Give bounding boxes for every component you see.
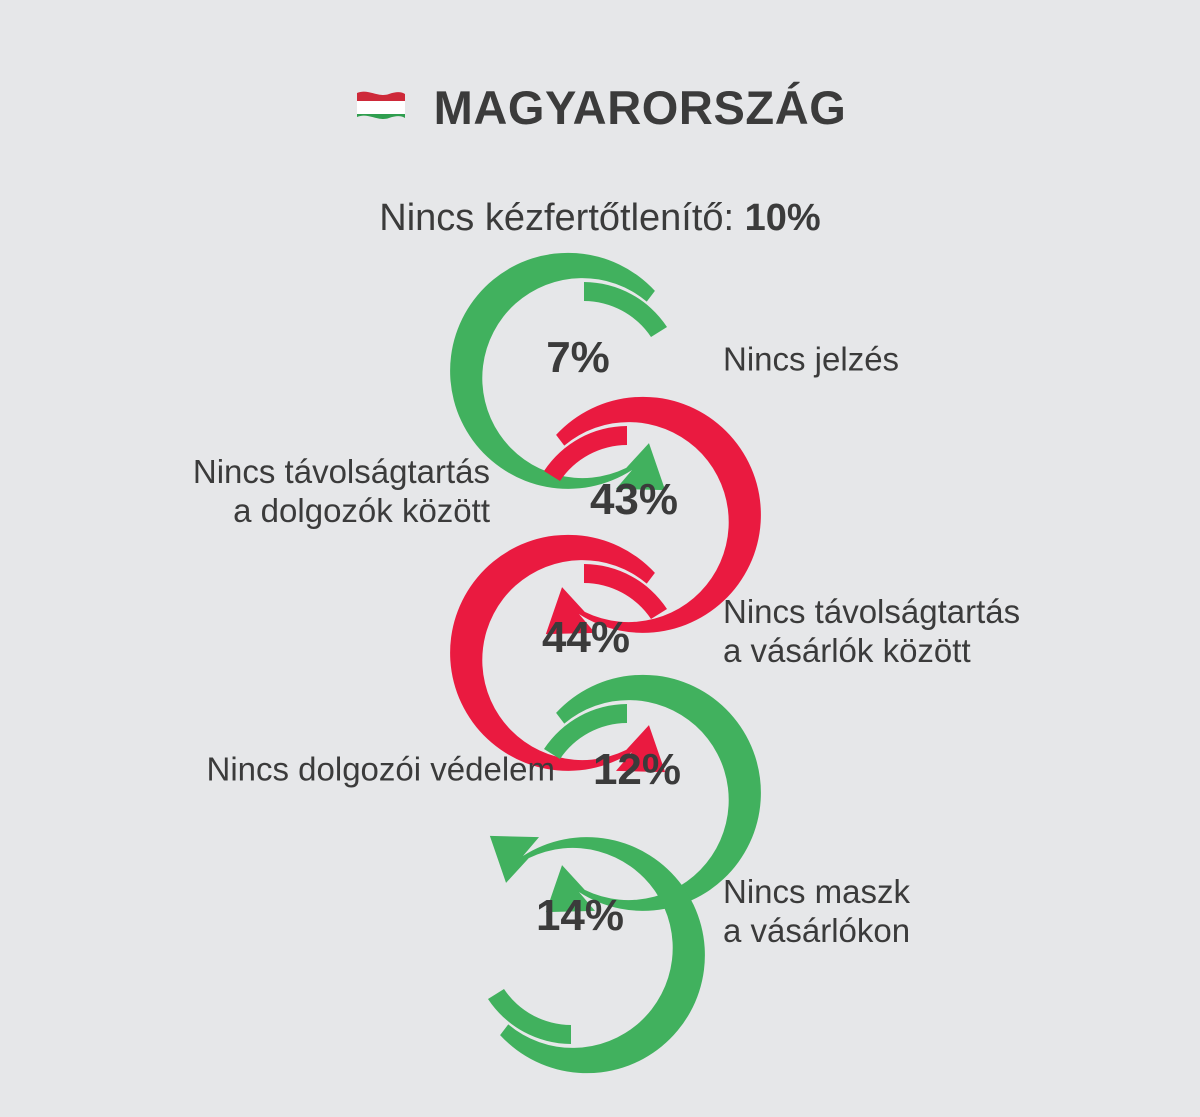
percent-nincs-jelzes: 7% bbox=[546, 336, 610, 380]
percent-nincs-tavolsagtartas-vasarlok: 44% bbox=[542, 616, 630, 660]
label-nincs-dolgozoi-vedelem: Nincs dolgozói védelem bbox=[206, 751, 555, 790]
label-nincs-jelzes: Nincs jelzés bbox=[723, 341, 899, 380]
infographic-canvas: MAGYARORSZÁG Nincs kézfertőtlenítő: 10% … bbox=[0, 0, 1200, 1117]
label-nincs-tavolsagtartas-dolgozok: Nincs távolságtartás a dolgozók között bbox=[193, 453, 490, 531]
label-nincs-maszk-vasarlokon: Nincs maszk a vásárlókon bbox=[723, 873, 910, 951]
circular-arrow-nincs-maszk-vasarlokon bbox=[455, 828, 687, 1060]
percent-nincs-maszk-vasarlokon: 14% bbox=[536, 894, 624, 938]
percent-nincs-dolgozoi-vedelem: 12% bbox=[593, 748, 681, 792]
percent-nincs-tavolsagtartas-dolgozok: 43% bbox=[590, 478, 678, 522]
arrow-chain: 7% Nincs jelzés 43% Nincs távolságtartás… bbox=[0, 0, 1200, 1117]
label-nincs-tavolsagtartas-vasarlok: Nincs távolságtartás a vásárlók között bbox=[723, 593, 1020, 671]
